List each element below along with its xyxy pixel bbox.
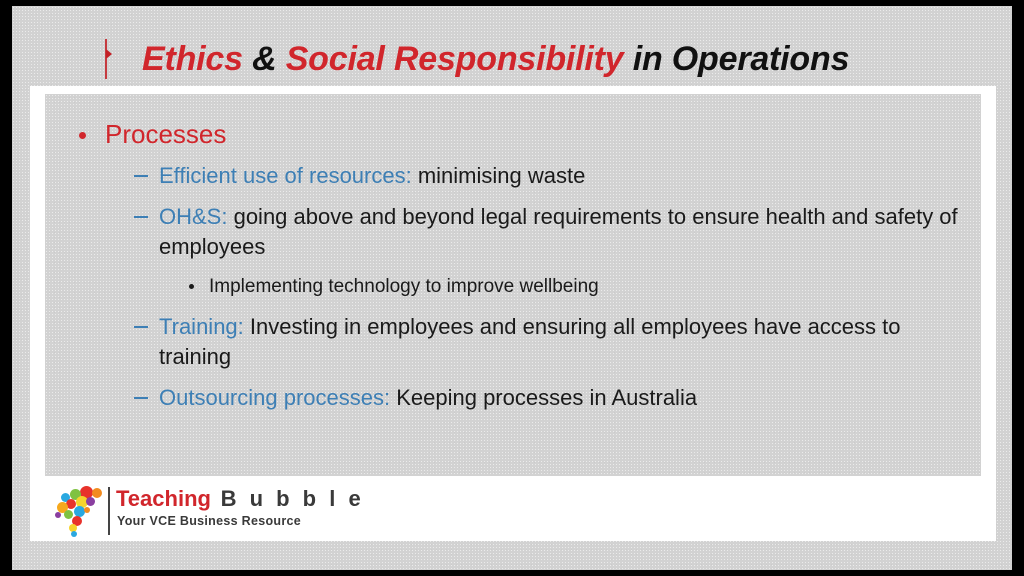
bullet-level2-ohs: OH&S: going above and beyond legal requi…: [61, 202, 965, 262]
logo-brand-first: Teaching: [116, 486, 211, 511]
title-part-ethics: Ethics: [142, 40, 252, 78]
bullet-dash-icon: [134, 175, 148, 177]
bullet-dot-small-icon: [189, 284, 194, 289]
bullet-label: OH&S:: [159, 204, 227, 229]
logo-tagline: Your VCE Business Resource: [117, 514, 301, 528]
bullet-level1-processes: Processes: [61, 116, 965, 152]
title-part-in-operations: in Operations: [633, 40, 850, 78]
slide-title-bar: Ethics & Social Responsibility in Operat…: [12, 34, 1012, 90]
bullet-dash-icon: [134, 216, 148, 218]
title-part-social-responsibility: Social Responsibility: [286, 40, 633, 78]
red-placeholder-marker-icon: [101, 39, 111, 79]
bullet-label: Training:: [159, 314, 244, 339]
bullet-label: Efficient use of resources:: [159, 163, 412, 188]
logo-wordmark: Teaching B u b b l e: [116, 485, 364, 513]
bullet-text: Keeping processes in Australia: [390, 385, 697, 410]
bubbles-logo-icon: [52, 486, 104, 540]
slide-title: Ethics & Social Responsibility in Operat…: [142, 34, 962, 84]
bullet-level2-efficient-use-of-resources: Efficient use of resources: minimising w…: [61, 161, 965, 191]
bullet-level2-training: Training: Investing in employees and ens…: [61, 312, 965, 372]
bullet-text: going above and beyond legal requirement…: [159, 204, 958, 259]
bullet-dash-icon: [134, 326, 148, 328]
bullet-dot-icon: [79, 132, 86, 139]
content-panel: Processes Efficient use of resources: mi…: [30, 86, 996, 541]
slide-canvas: Ethics & Social Responsibility in Operat…: [12, 6, 1012, 570]
logo-brand-second: B u b b l e: [211, 486, 364, 511]
bullet-content-box: Processes Efficient use of resources: mi…: [45, 94, 981, 476]
bullet-text: minimising waste: [412, 163, 586, 188]
footer-logo: Teaching B u b b l e Your VCE Business R…: [48, 484, 348, 540]
bullet-level1-label: Processes: [105, 119, 226, 149]
bullet-level2-outsourcing-processes: Outsourcing processes: Keeping processes…: [61, 383, 965, 413]
bullet-text: Investing in employees and ensuring all …: [159, 314, 901, 369]
bullet-dash-icon: [134, 397, 148, 399]
bullet-level3-implementing-technology: Implementing technology to improve wellb…: [61, 273, 965, 300]
title-part-ampersand: &: [252, 40, 286, 78]
bullet-text: Implementing technology to improve wellb…: [209, 276, 599, 297]
slide-frame: Ethics & Social Responsibility in Operat…: [0, 0, 1024, 576]
bullet-label: Outsourcing processes:: [159, 385, 390, 410]
logo-divider: [108, 487, 110, 535]
